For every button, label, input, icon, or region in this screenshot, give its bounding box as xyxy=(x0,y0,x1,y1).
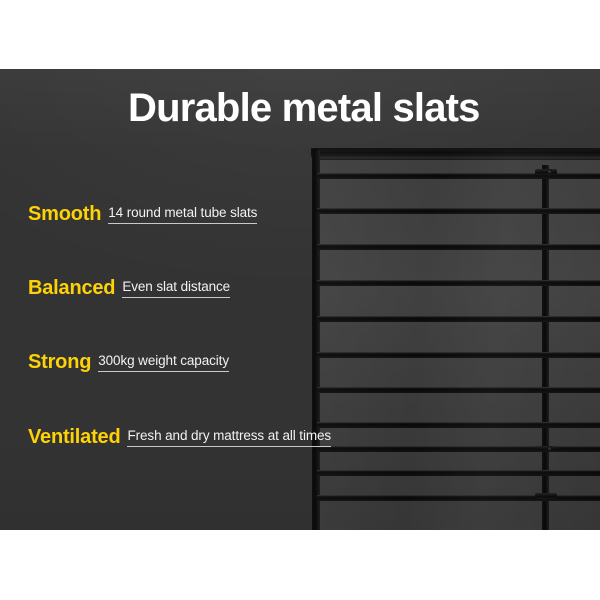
slat-bracket-pin xyxy=(547,446,552,451)
feature-row-strong: Strong 300kg weight capacity xyxy=(28,352,229,375)
bed-frame-image xyxy=(303,69,600,530)
feature-row-smooth: Smooth 14 round metal tube slats xyxy=(28,204,257,227)
slat-bracket-joint xyxy=(535,446,557,452)
metal-slat xyxy=(317,173,600,179)
feature-key-balanced: Balanced xyxy=(28,278,115,298)
metal-slat xyxy=(317,352,600,358)
feature-value-smooth: 14 round metal tube slats xyxy=(108,206,257,224)
metal-slat xyxy=(317,316,600,322)
promo-banner: Durable metal slats Smooth 14 round meta… xyxy=(0,0,600,600)
feature-value-ventilated: Fresh and dry mattress at all times xyxy=(127,429,331,447)
metal-slat xyxy=(317,422,600,428)
metal-slat xyxy=(317,470,600,476)
metal-slat xyxy=(317,495,600,501)
feature-row-ventilated: Ventilated Fresh and dry mattress at all… xyxy=(28,427,331,450)
feature-key-smooth: Smooth xyxy=(28,204,101,224)
metal-slat xyxy=(317,387,600,393)
feature-value-strong: 300kg weight capacity xyxy=(98,354,229,372)
metal-slat xyxy=(317,244,600,250)
slat-bracket-joint xyxy=(535,169,557,175)
metal-slat xyxy=(317,208,600,214)
feature-value-balanced: Even slat distance xyxy=(122,280,230,298)
frame-top-rail-inner xyxy=(317,157,600,160)
metal-slat xyxy=(317,446,600,452)
slat-bracket-joint xyxy=(535,493,557,499)
metal-slat xyxy=(317,280,600,286)
feature-key-ventilated: Ventilated xyxy=(28,427,120,447)
feature-row-balanced: Balanced Even slat distance xyxy=(28,278,230,301)
frame-top-rail xyxy=(311,148,600,157)
feature-key-strong: Strong xyxy=(28,352,91,372)
slat-bracket-pin xyxy=(547,169,552,174)
page-title: Durable metal slats xyxy=(128,88,480,128)
